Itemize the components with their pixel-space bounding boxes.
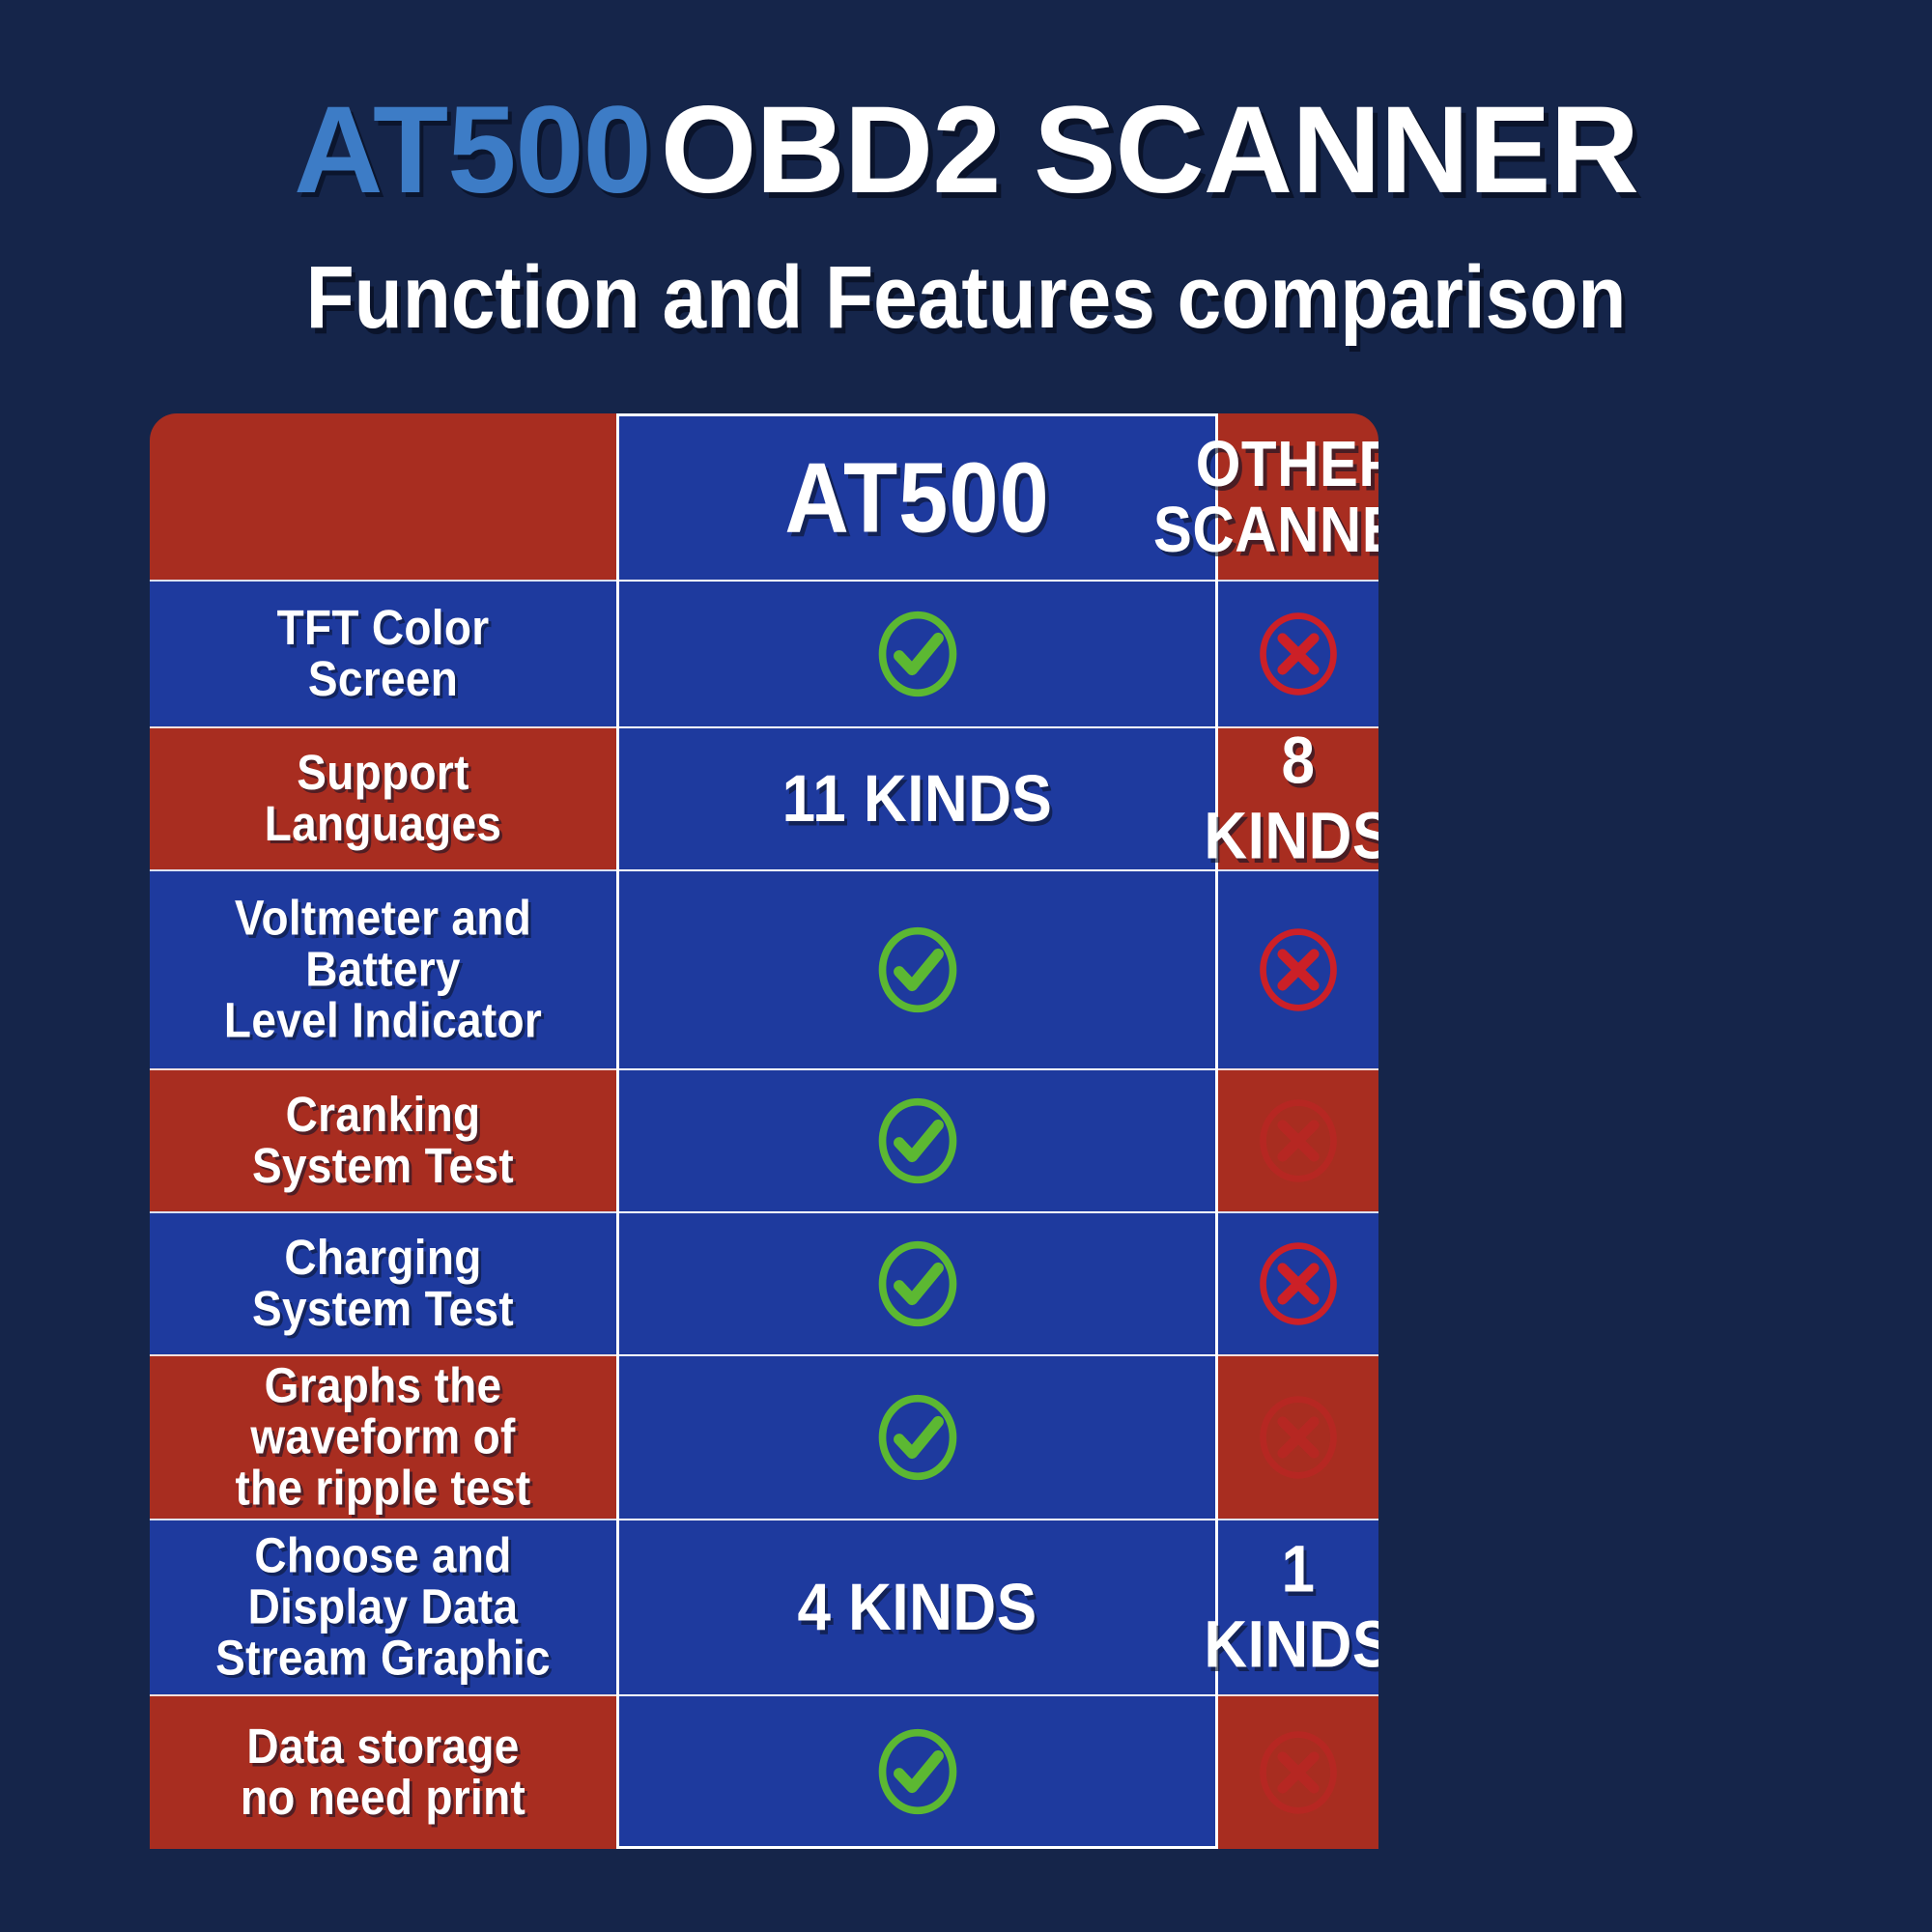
cross-circle-icon xyxy=(1252,1094,1345,1187)
feature-label: Graphs thewaveform ofthe ripple test xyxy=(235,1361,530,1514)
comparison-table: AT500OTHERSCANNERTFT ColorScreenSupportL… xyxy=(150,413,1378,1893)
at500-cell xyxy=(616,1354,1218,1519)
page-subtitle: Function and Features comparison xyxy=(0,253,1932,344)
at500-cell xyxy=(616,869,1218,1068)
other-scanner-cell xyxy=(1218,1694,1378,1849)
table-row: CrankingSystem Test xyxy=(150,1068,1378,1211)
check-circle-icon xyxy=(871,1391,964,1484)
comparison-infographic: AT500OBD2 SCANNER Function and Features … xyxy=(0,0,1932,1932)
header-cell-feature xyxy=(150,413,616,580)
other-scanner-cell xyxy=(1218,1211,1378,1354)
header-other-scanner-label: OTHERSCANNER xyxy=(1153,430,1378,562)
table-row: Choose andDisplay DataStream Graphic4 KI… xyxy=(150,1519,1378,1694)
other-scanner-cell: 1 KINDS xyxy=(1218,1519,1378,1694)
at500-value: 4 KINDS xyxy=(797,1570,1037,1645)
at500-cell xyxy=(616,1211,1218,1354)
other-scanner-cell xyxy=(1218,580,1378,726)
cross-circle-icon xyxy=(1252,608,1345,700)
at500-cell xyxy=(616,1068,1218,1211)
header-cell-other-scanner: OTHERSCANNER xyxy=(1218,413,1378,580)
other-scanner-cell xyxy=(1218,1068,1378,1211)
other-scanner-cell: 8 KINDS xyxy=(1218,726,1378,869)
feature-cell: Graphs thewaveform ofthe ripple test xyxy=(150,1354,616,1519)
table-header-row: AT500OTHERSCANNER xyxy=(150,413,1378,580)
cross-circle-icon xyxy=(1252,1391,1345,1484)
feature-cell: Voltmeter andBatteryLevel Indicator xyxy=(150,869,616,1068)
feature-cell: Data storageno need print xyxy=(150,1694,616,1849)
feature-cell: SupportLanguages xyxy=(150,726,616,869)
header-at500-label: AT500 xyxy=(784,448,1049,548)
feature-label: SupportLanguages xyxy=(265,748,502,849)
at500-value: 11 KINDS xyxy=(782,761,1053,837)
other-scanner-value: 1 KINDS xyxy=(1204,1532,1378,1683)
feature-label: ChargingSystem Test xyxy=(252,1233,514,1334)
cross-circle-icon xyxy=(1252,1237,1345,1330)
feature-cell: Choose andDisplay DataStream Graphic xyxy=(150,1519,616,1694)
title-product: OBD2 SCANNER xyxy=(661,81,1638,219)
table-row: Graphs thewaveform ofthe ripple test xyxy=(150,1354,1378,1519)
other-scanner-cell xyxy=(1218,869,1378,1068)
feature-cell: TFT ColorScreen xyxy=(150,580,616,726)
feature-label: TFT ColorScreen xyxy=(277,603,490,704)
feature-cell: ChargingSystem Test xyxy=(150,1211,616,1354)
subtitle-text: Function and Features comparison xyxy=(306,247,1627,349)
feature-label: Voltmeter andBatteryLevel Indicator xyxy=(224,894,542,1046)
at500-cell: 11 KINDS xyxy=(616,726,1218,869)
table-row: Data storageno need print xyxy=(150,1694,1378,1849)
other-scanner-cell xyxy=(1218,1354,1378,1519)
check-circle-icon xyxy=(871,923,964,1016)
at500-cell xyxy=(616,1694,1218,1849)
feature-label: CrankingSystem Test xyxy=(252,1090,514,1191)
table-row: TFT ColorScreen xyxy=(150,580,1378,726)
feature-label: Choose andDisplay DataStream Graphic xyxy=(215,1531,551,1684)
feature-label: Data storageno need print xyxy=(241,1721,526,1823)
check-circle-icon xyxy=(871,608,964,700)
table-row: SupportLanguages11 KINDS8 KINDS xyxy=(150,726,1378,869)
other-scanner-value: 8 KINDS xyxy=(1204,724,1378,874)
cross-circle-icon xyxy=(1252,923,1345,1016)
header-cell-at500: AT500 xyxy=(616,413,1218,580)
feature-cell: CrankingSystem Test xyxy=(150,1068,616,1211)
check-circle-icon xyxy=(871,1725,964,1818)
at500-cell xyxy=(616,580,1218,726)
page-title: AT500OBD2 SCANNER xyxy=(0,89,1932,213)
check-circle-icon xyxy=(871,1094,964,1187)
table-row: ChargingSystem Test xyxy=(150,1211,1378,1354)
at500-cell: 4 KINDS xyxy=(616,1519,1218,1694)
check-circle-icon xyxy=(871,1237,964,1330)
cross-circle-icon xyxy=(1252,1726,1345,1819)
title-brand: AT500 xyxy=(294,81,651,219)
table-row: Voltmeter andBatteryLevel Indicator xyxy=(150,869,1378,1068)
